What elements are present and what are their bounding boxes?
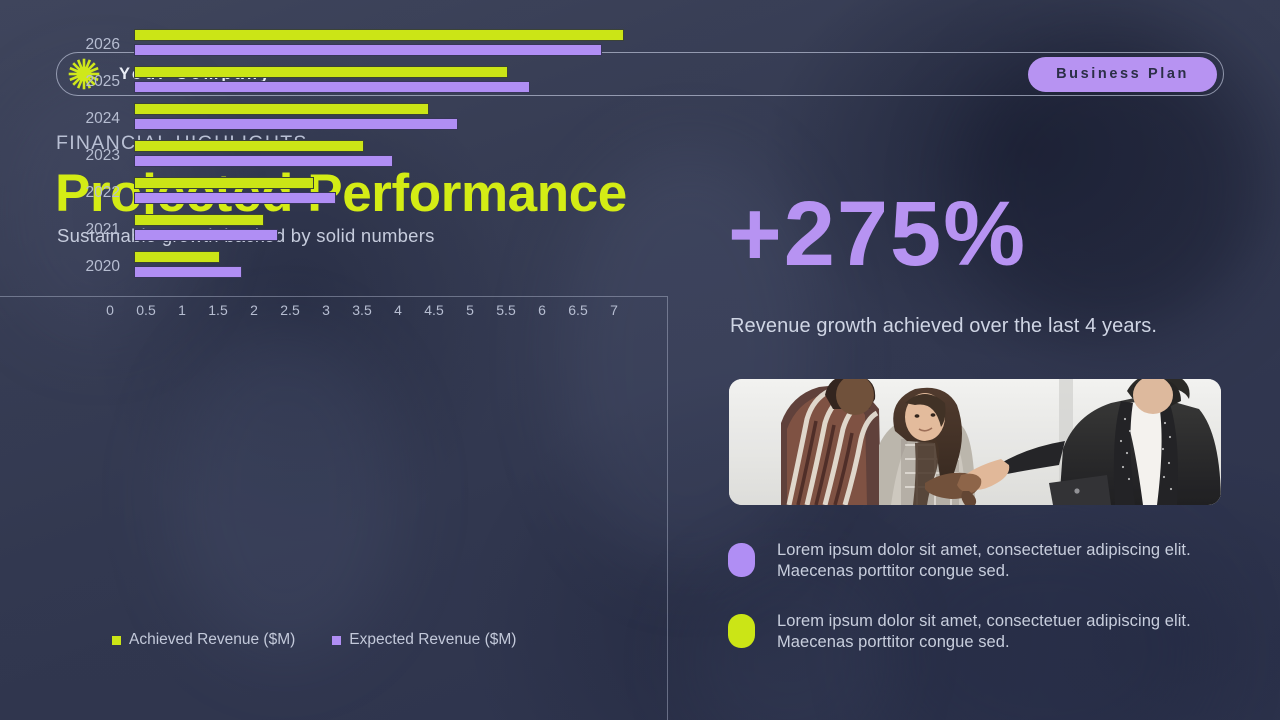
axis-tick-label: 2: [250, 302, 258, 318]
bar-category-label: 2022: [40, 184, 134, 202]
bar-row: 2023: [40, 137, 708, 174]
bar-stack: [134, 28, 708, 61]
bullet-text: Lorem ipsum dolor sit amet, consectetuer…: [777, 540, 1228, 582]
bar-expected-revenue[interactable]: [134, 155, 393, 167]
stat-number: +275%: [728, 188, 1027, 280]
bar-category-label: 2024: [40, 110, 134, 128]
bar-row: 2025: [40, 63, 708, 100]
bar-stack: [134, 102, 708, 135]
bar-row: 2021: [40, 211, 708, 248]
bar-achieved-revenue[interactable]: [134, 177, 314, 189]
bar-expected-revenue[interactable]: [134, 229, 278, 241]
bar-expected-revenue[interactable]: [134, 44, 602, 56]
bar-achieved-revenue[interactable]: [134, 29, 624, 41]
axis-tick-label: 6: [538, 302, 546, 318]
bullet-item: Lorem ipsum dolor sit amet, consectetuer…: [728, 611, 1228, 653]
bar-category-label: 2021: [40, 221, 134, 239]
bar-category-label: 2020: [40, 258, 134, 276]
bar-stack: [134, 139, 708, 172]
bar-row: 2020: [40, 248, 708, 285]
bar-achieved-revenue[interactable]: [134, 251, 220, 263]
bar-stack: [134, 250, 708, 283]
bullet-dot-icon: [728, 614, 755, 648]
bar-category-label: 2025: [40, 73, 134, 91]
bar-expected-revenue[interactable]: [134, 192, 336, 204]
bar-expected-revenue[interactable]: [134, 81, 530, 93]
axis-tick-label: 1: [178, 302, 186, 318]
axis-tick-label: 5.5: [496, 302, 515, 318]
bar-category-label: 2026: [40, 36, 134, 54]
axis-tick-label: 3.5: [352, 302, 371, 318]
axis-tick-label: 7: [610, 302, 618, 318]
bar-row: 2022: [40, 174, 708, 211]
bar-expected-revenue[interactable]: [134, 266, 242, 278]
bullet-item: Lorem ipsum dolor sit amet, consectetuer…: [728, 540, 1228, 582]
axis-tick-label: 2.5: [280, 302, 299, 318]
bullet-text: Lorem ipsum dolor sit amet, consectetuer…: [777, 611, 1228, 653]
chart-x-axis: 00.511.522.533.544.555.566.57: [94, 302, 614, 322]
bar-row: 2026: [40, 26, 708, 63]
bar-stack: [134, 176, 708, 209]
bar-stack: [134, 213, 708, 246]
legend-item[interactable]: Expected Revenue ($M): [332, 631, 516, 649]
chart-legend: Achieved Revenue ($M)Expected Revenue ($…: [112, 631, 516, 649]
bar-achieved-revenue[interactable]: [134, 103, 429, 115]
bar-chart: 2026202520242023202220212020: [40, 0, 708, 424]
bar-achieved-revenue[interactable]: [134, 66, 508, 78]
bar-stack: [134, 65, 708, 98]
bar-expected-revenue[interactable]: [134, 118, 458, 130]
axis-tick-label: 5: [466, 302, 474, 318]
legend-swatch-icon: [112, 636, 121, 645]
legend-label: Achieved Revenue ($M): [129, 631, 295, 649]
axis-tick-label: 0.5: [136, 302, 155, 318]
legend-label: Expected Revenue ($M): [349, 631, 516, 649]
axis-tick-label: 0: [106, 302, 114, 318]
bullet-list: Lorem ipsum dolor sit amet, consectetuer…: [728, 540, 1228, 682]
legend-item[interactable]: Achieved Revenue ($M): [112, 631, 295, 649]
bar-achieved-revenue[interactable]: [134, 214, 264, 226]
bullet-dot-icon: [728, 543, 755, 577]
stat-caption: Revenue growth achieved over the last 4 …: [730, 315, 1157, 338]
axis-tick-label: 6.5: [568, 302, 587, 318]
bar-category-label: 2023: [40, 147, 134, 165]
legend-swatch-icon: [332, 636, 341, 645]
axis-tick-label: 4: [394, 302, 402, 318]
bar-rows: 2026202520242023202220212020: [40, 26, 708, 285]
business-handshake-photo: [729, 379, 1221, 505]
bar-row: 2024: [40, 100, 708, 137]
bar-achieved-revenue[interactable]: [134, 140, 364, 152]
axis-tick-label: 1.5: [208, 302, 227, 318]
axis-tick-label: 4.5: [424, 302, 443, 318]
business-plan-badge[interactable]: Business Plan: [1028, 57, 1217, 92]
axis-tick-label: 3: [322, 302, 330, 318]
